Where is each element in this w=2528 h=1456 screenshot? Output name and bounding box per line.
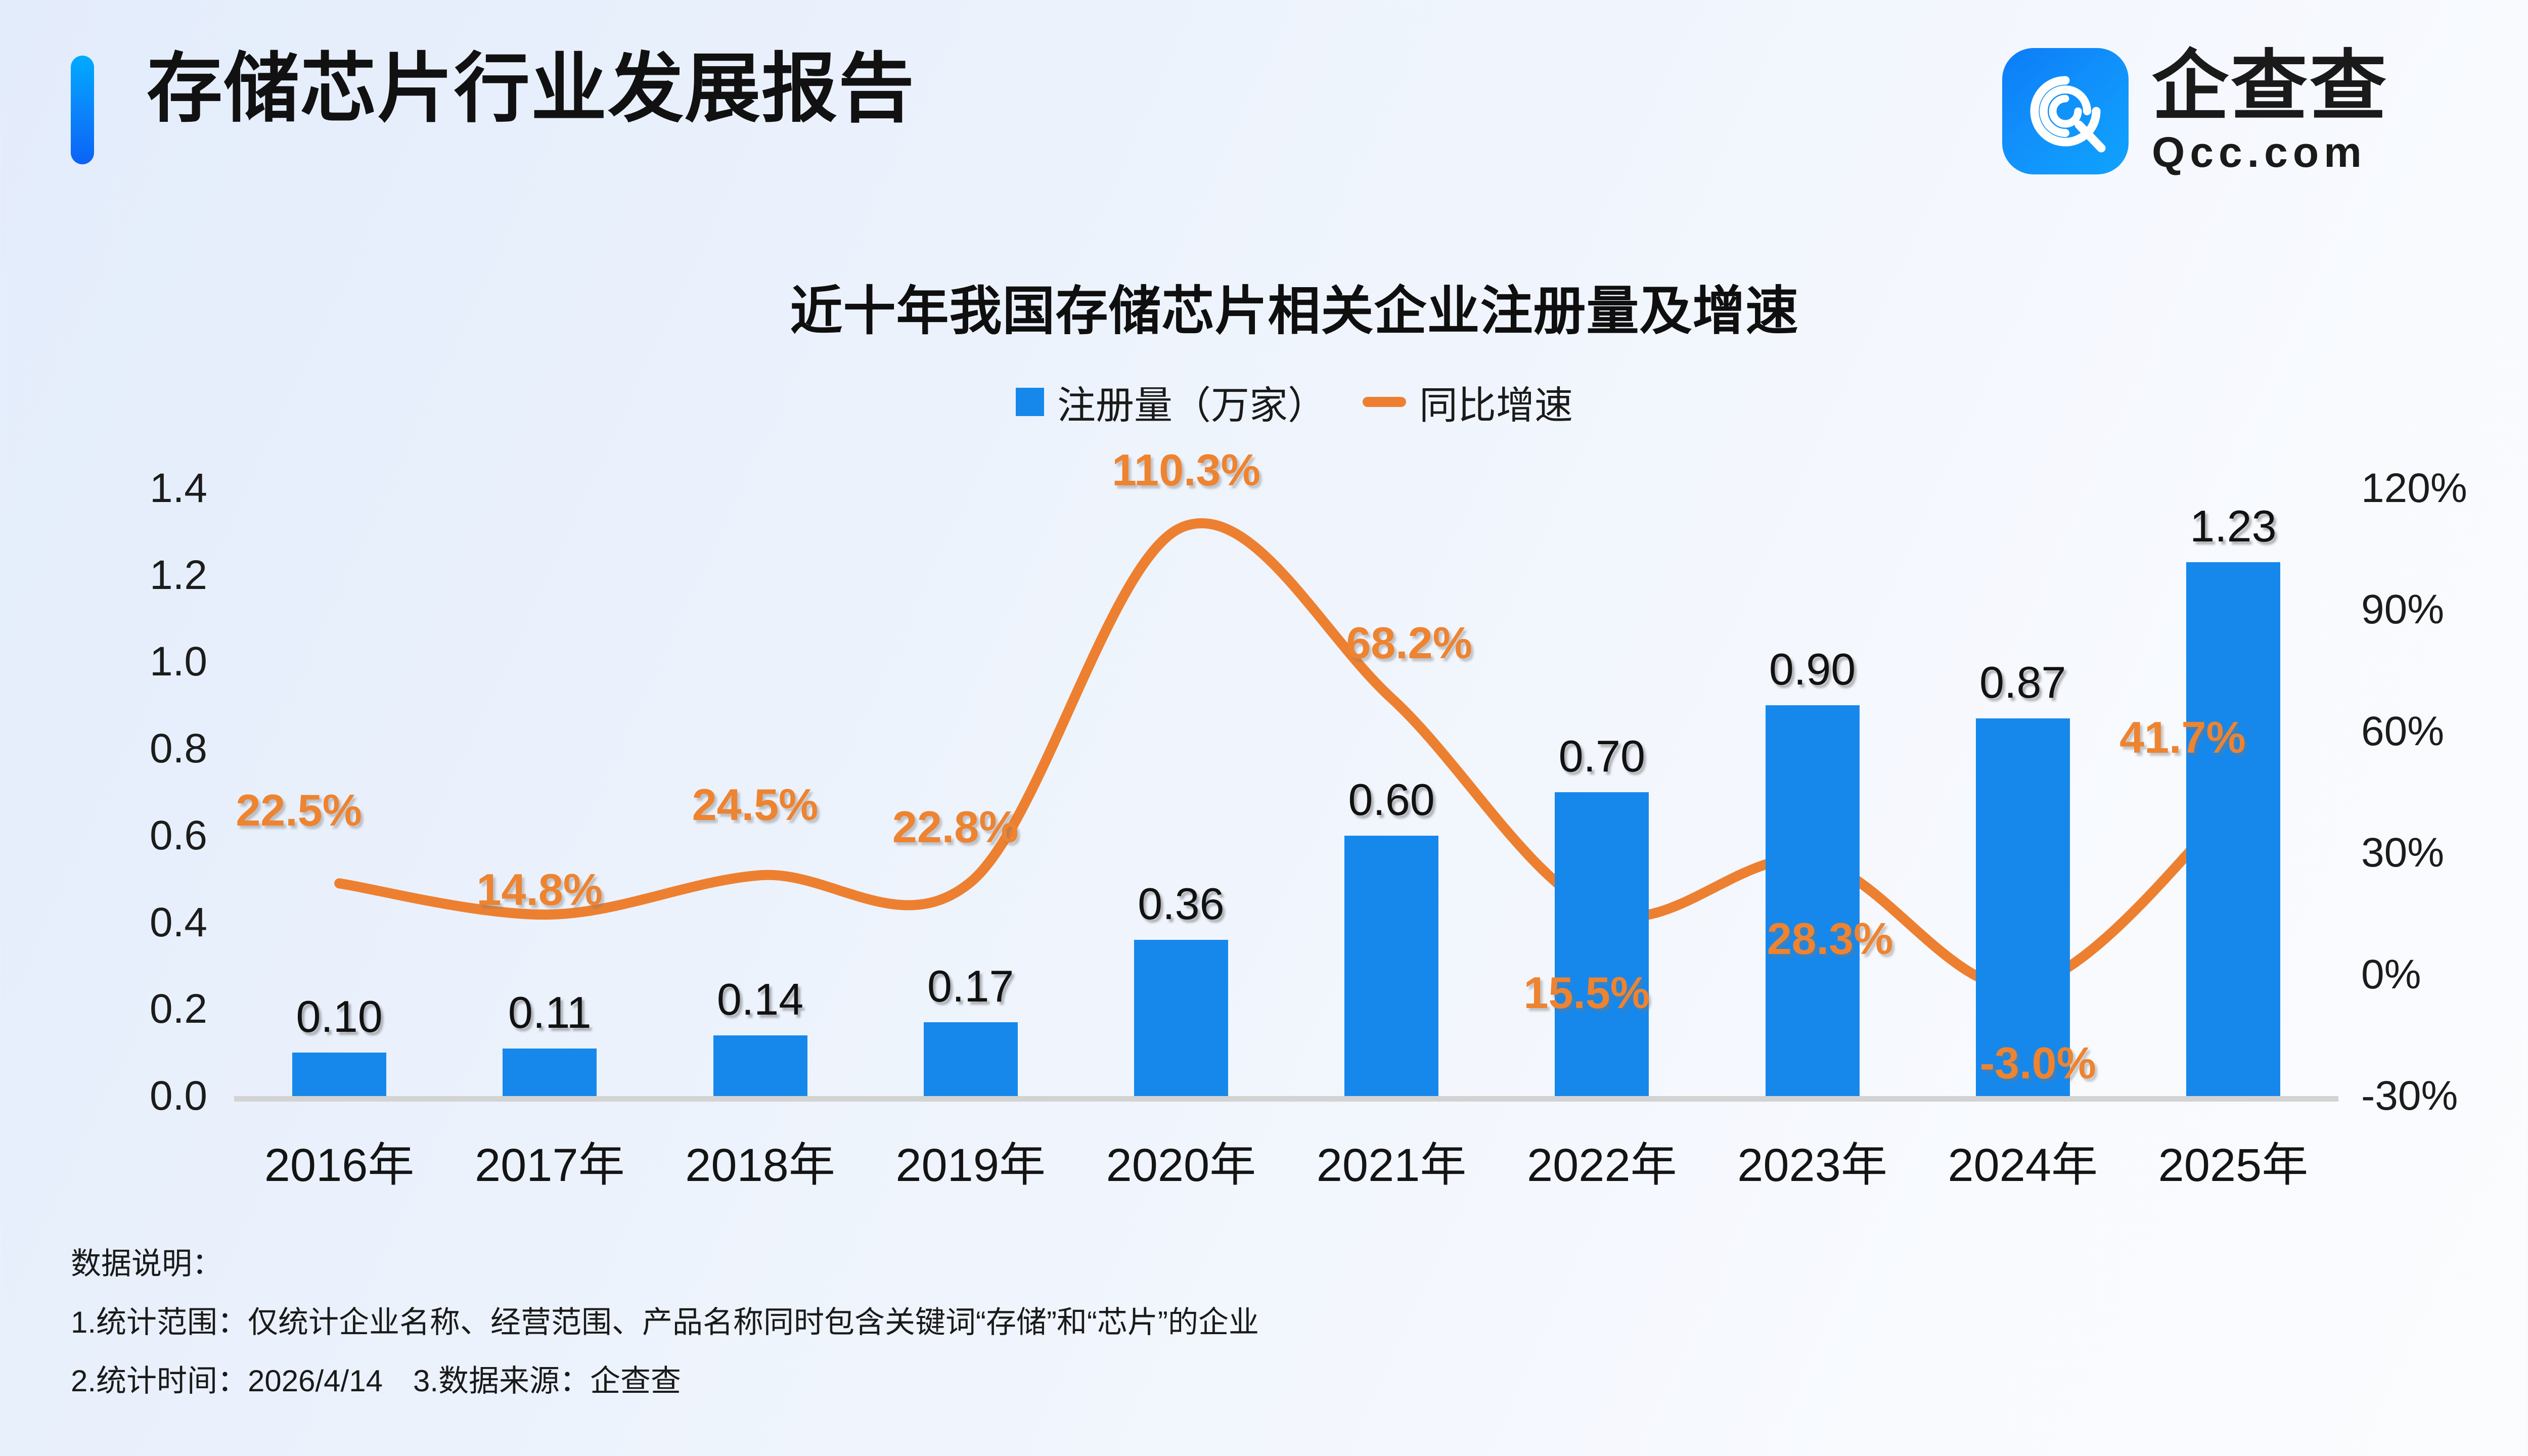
growth-rate-label: 14.8%: [477, 864, 603, 916]
bar-value-label: 0.11: [508, 987, 592, 1038]
legend-swatch-bar-icon: [1016, 388, 1044, 416]
bar-2023年[interactable]: [1766, 705, 1860, 1096]
legend-label-line: 同比增速: [1419, 374, 1573, 430]
growth-rate-label: 22.8%: [892, 801, 1019, 853]
bar-value-label: 0.14: [717, 974, 803, 1025]
chart-title: 近十年我国存储芯片相关企业注册量及增速: [0, 268, 2528, 344]
y-axis-left-tick: 0.0: [56, 1072, 207, 1120]
growth-rate-label: 68.2%: [1346, 617, 1472, 669]
qcc-spiral-q-icon: [2002, 48, 2129, 174]
growth-rate-label: 110.3%: [1112, 444, 1260, 496]
bar-2018年[interactable]: [713, 1035, 807, 1096]
bar-value-label: 0.87: [1979, 657, 2066, 708]
legend-swatch-line-icon: [1363, 397, 1406, 407]
y-axis-right-tick: 60%: [2361, 708, 2528, 755]
legend-label-bar: 注册量（万家）: [1057, 374, 1326, 430]
qcc-logo[interactable]: 企查查 Qcc.com: [2002, 48, 2388, 174]
y-axis-left-tick: 0.2: [56, 985, 207, 1033]
growth-rate-label: 22.5%: [236, 785, 362, 836]
growth-rate-label: -3.0%: [1980, 1037, 2096, 1089]
footer-heading: 数据说明：: [71, 1249, 2397, 1279]
bar-value-label: 0.10: [296, 991, 382, 1042]
bar-2017年[interactable]: [503, 1049, 597, 1096]
y-axis-left-tick: 1.2: [56, 552, 207, 599]
bar-2019年[interactable]: [924, 1022, 1018, 1096]
bar-2024年[interactable]: [1976, 718, 2070, 1096]
x-axis-tick-2020年: 2020年: [1106, 1127, 1256, 1195]
bar-value-label: 0.90: [1769, 644, 1856, 695]
x-axis-tick-2022年: 2022年: [1527, 1127, 1677, 1195]
accent-bar-decoration: [71, 56, 94, 164]
chart-plot-area: 0.00.20.40.60.81.01.21.4-30%0%30%60%90%1…: [0, 0, 2528, 1456]
x-axis-tick-2017年: 2017年: [475, 1127, 625, 1195]
x-axis-tick-2019年: 2019年: [895, 1127, 1046, 1195]
y-axis-right-tick: 120%: [2361, 465, 2528, 512]
y-axis-right-tick: -30%: [2361, 1072, 2528, 1120]
y-axis-left-tick: 0.4: [56, 899, 207, 946]
x-axis-tick-2023年: 2023年: [1737, 1127, 1887, 1195]
chart-legend: 注册量（万家） 同比增速: [0, 374, 2528, 430]
bar-value-label: 1.23: [2190, 500, 2276, 552]
logo-chinese-name: 企查查: [2152, 48, 2388, 125]
bar-2020年[interactable]: [1134, 940, 1228, 1096]
bar-value-label: 0.60: [1348, 774, 1434, 826]
footer-notes: 数据说明： 1.统计范围：仅统计企业名称、经营范围、产品名称同时包含关键词“存储…: [71, 1249, 2397, 1425]
x-axis-tick-2024年: 2024年: [1948, 1127, 2098, 1195]
y-axis-left-tick: 0.6: [56, 812, 207, 859]
x-axis-tick-2021年: 2021年: [1317, 1127, 1467, 1195]
y-axis-right-tick: 30%: [2361, 829, 2528, 877]
growth-rate-label: 15.5%: [1524, 967, 1650, 1019]
x-axis-baseline: [234, 1096, 2338, 1102]
bar-2025年[interactable]: [2186, 562, 2280, 1096]
bar-2016年[interactable]: [292, 1053, 386, 1096]
growth-rate-label: 41.7%: [2119, 712, 2246, 763]
y-axis-right-tick: 90%: [2361, 586, 2528, 633]
x-axis-tick-2025年: 2025年: [2158, 1127, 2309, 1195]
legend-item-line[interactable]: 同比增速: [1363, 374, 1573, 430]
page-header: 存储芯片行业发展报告 企查查 Qcc.com: [0, 0, 2528, 212]
footer-note-scope: 1.统计范围：仅统计企业名称、经营范围、产品名称同时包含关键词“存储”和“芯片”…: [71, 1307, 2397, 1338]
y-axis-left-tick: 1.4: [56, 465, 207, 512]
bar-value-label: 0.70: [1559, 731, 1645, 782]
growth-rate-label: 24.5%: [692, 779, 819, 831]
bar-2021年[interactable]: [1344, 836, 1438, 1096]
growth-rate-line: [0, 0, 2528, 1456]
footer-note-source: 2.统计时间：2026/4/14 3.数据来源：企查查: [71, 1366, 2397, 1396]
x-axis-tick-2018年: 2018年: [685, 1127, 835, 1195]
bar-value-label: 0.17: [927, 961, 1014, 1012]
logo-domain: Qcc.com: [2152, 130, 2388, 174]
bar-2022年[interactable]: [1555, 792, 1649, 1096]
page-title: 存储芯片行业发展报告: [147, 51, 915, 126]
y-axis-left-tick: 0.8: [56, 725, 207, 772]
x-axis-tick-2016年: 2016年: [264, 1127, 415, 1195]
bar-value-label: 0.36: [1138, 878, 1224, 930]
growth-rate-label: 28.3%: [1767, 913, 1893, 965]
y-axis-right-tick: 0%: [2361, 951, 2528, 998]
y-axis-left-tick: 1.0: [56, 638, 207, 686]
legend-item-bar[interactable]: 注册量（万家）: [1016, 374, 1326, 430]
